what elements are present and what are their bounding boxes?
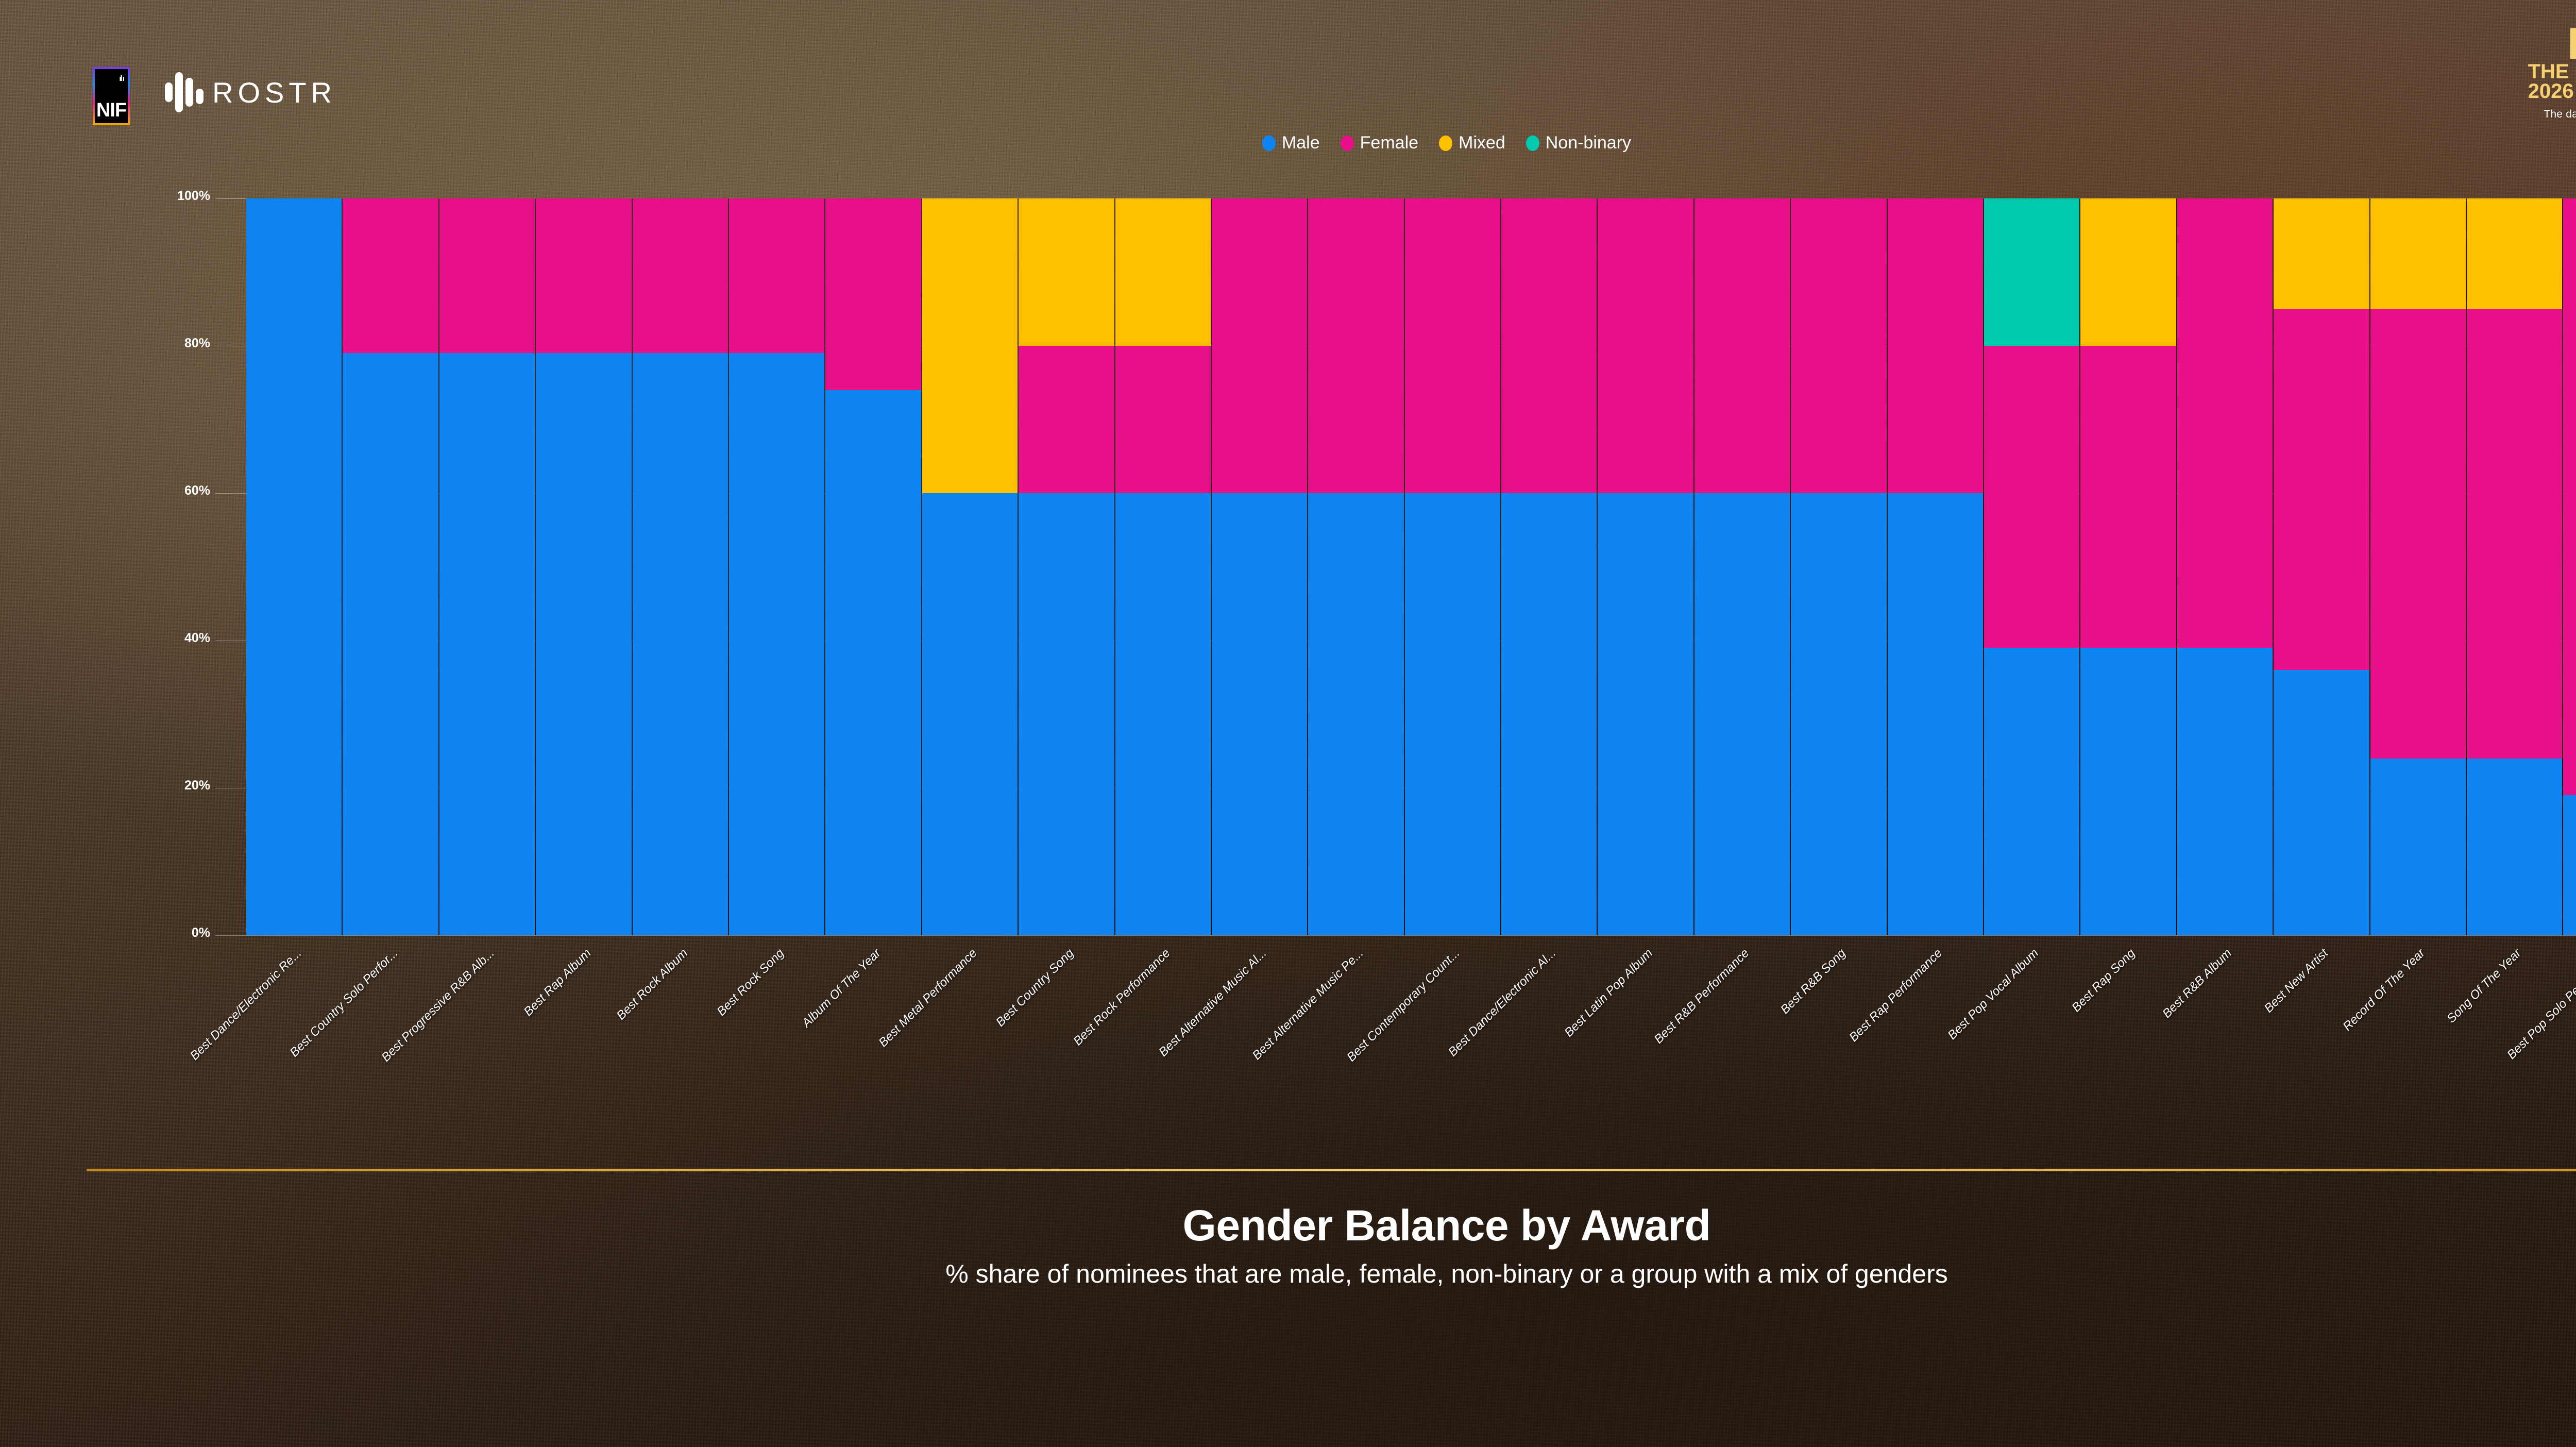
bar-segment-female[interactable] — [1984, 346, 2079, 648]
bar-segment-female[interactable] — [729, 198, 824, 353]
y-axis-tick-label: 60% — [184, 483, 210, 498]
footer-divider — [87, 1169, 2576, 1171]
bar-column[interactable] — [2369, 198, 2466, 935]
bar-column[interactable] — [1693, 198, 1790, 935]
legend-label: Female — [1360, 133, 1418, 153]
bar-segment-female[interactable] — [2370, 309, 2466, 759]
bar-segment-male[interactable] — [1019, 493, 1114, 935]
bar-segment-male[interactable] — [2467, 759, 2562, 935]
x-axis-label-cell: Best Country Song — [1019, 942, 1115, 1164]
legend-item-male[interactable]: Male — [1262, 133, 1320, 153]
bar-column[interactable] — [824, 198, 921, 935]
brand-line-year: 2026 — [2528, 81, 2574, 101]
bar-segment-male[interactable] — [1694, 493, 1790, 935]
legend-swatch-icon — [1526, 136, 1539, 151]
bar-segment-female[interactable] — [1019, 346, 1114, 493]
chart-footer: Gender Balance by Award % share of nomin… — [0, 1201, 2576, 1289]
chart-plot-area: 0%20%40%60%80%100% — [246, 198, 2576, 935]
bar-segment-male[interactable] — [2563, 795, 2576, 935]
bar-column[interactable] — [632, 198, 728, 935]
bar-column[interactable] — [1018, 198, 1114, 935]
bar-column[interactable] — [2176, 198, 2273, 935]
bar-segment-female[interactable] — [1694, 198, 1790, 493]
bar-segment-female[interactable] — [439, 198, 535, 353]
bar-segment-female[interactable] — [1115, 346, 1211, 493]
bar-segment-male[interactable] — [922, 493, 1018, 935]
bar-segment-female[interactable] — [2274, 309, 2369, 670]
legend-swatch-icon — [1341, 136, 1354, 151]
y-axis-tick-label: 40% — [184, 631, 210, 646]
x-axis-label-cell: Best New Artist — [2273, 942, 2369, 1164]
bar-column[interactable] — [535, 198, 631, 935]
legend-swatch-icon — [1262, 136, 1276, 151]
chart-legend: MaleFemaleMixedNon-binary — [0, 133, 2576, 153]
x-axis-label-cell: Best Dance/Electronic Al... — [1501, 942, 1597, 1164]
bar-segment-female[interactable] — [633, 198, 728, 353]
bar-segment-male[interactable] — [825, 390, 921, 935]
bar-column[interactable] — [438, 198, 535, 935]
gridline — [215, 935, 2576, 936]
bar-column[interactable] — [1500, 198, 1597, 935]
bar-column[interactable] — [1983, 198, 2079, 935]
bar-segment-male[interactable] — [1405, 493, 1500, 935]
bar-segment-non-binary[interactable] — [1984, 198, 2079, 346]
bar-segment-female[interactable] — [1791, 198, 1886, 493]
bar-segment-male[interactable] — [1888, 493, 1983, 935]
bar-segment-male[interactable] — [1984, 648, 2079, 935]
x-axis-label-cell: Album Of The Year — [825, 942, 922, 1164]
bar-column[interactable] — [921, 198, 1018, 935]
bar-column[interactable] — [1790, 198, 1886, 935]
x-axis-label-cell: Best Rap Song — [2080, 942, 2176, 1164]
rostr-logo: ROSTR — [165, 72, 336, 112]
bar-segment-male[interactable] — [2177, 648, 2273, 935]
bar-column[interactable] — [2273, 198, 2369, 935]
bar-segment-mixed[interactable] — [2467, 198, 2562, 309]
x-axis-label-cell: Best Latin Pop Album — [1597, 942, 1693, 1164]
rostr-logo-text: ROSTR — [212, 76, 336, 109]
bar-segment-female[interactable] — [1212, 198, 1307, 493]
behind-the-awards-brand: BEHIND THE 2026 AWARDS The data behind t… — [2498, 25, 2576, 121]
bar-column[interactable] — [2079, 198, 2176, 935]
legend-label: Male — [1282, 133, 1320, 153]
bar-segment-male[interactable] — [1598, 493, 1693, 935]
chart-title: Gender Balance by Award — [0, 1201, 2576, 1251]
bar-segment-mixed[interactable] — [1115, 198, 1211, 346]
bar-segment-female[interactable] — [2177, 198, 2273, 648]
legend-label: Mixed — [1459, 133, 1505, 153]
legend-item-mixed[interactable]: Mixed — [1439, 133, 1505, 153]
bar-segment-mixed[interactable] — [922, 198, 1018, 493]
x-axis-label-cell: Best Pop Solo Performan... — [2563, 942, 2576, 1164]
bar-column[interactable] — [342, 198, 438, 935]
brand-line-behind: BEHIND — [2495, 25, 2576, 64]
y-axis-tick-label: 20% — [184, 778, 210, 793]
bar-segment-male[interactable] — [2370, 759, 2466, 935]
bar-column[interactable] — [1887, 198, 1983, 935]
bar-segment-male[interactable] — [439, 353, 535, 935]
bar-segment-mixed[interactable] — [2274, 198, 2369, 309]
bar-segment-female[interactable] — [1598, 198, 1693, 493]
bar-segment-mixed[interactable] — [1019, 198, 1114, 346]
y-axis-tick-label: 100% — [177, 189, 210, 204]
bar-segment-male[interactable] — [729, 353, 824, 935]
bar-segment-female[interactable] — [2563, 198, 2576, 795]
bar-segment-male[interactable] — [1115, 493, 1211, 935]
x-axis-label-cell: Best Progressive R&B Alb... — [439, 942, 536, 1164]
y-axis-tick-label: 0% — [192, 926, 210, 940]
legend-label: Non-binary — [1546, 133, 1631, 153]
bar-segment-female[interactable] — [825, 198, 921, 390]
x-axis-tick-label: Best Dance/Electronic Re... — [188, 946, 304, 1063]
x-axis-label-cell: Best R&B Performance — [1694, 942, 1790, 1164]
bar-segment-female[interactable] — [536, 198, 631, 353]
bar-segment-male[interactable] — [1308, 493, 1403, 935]
bar-column[interactable] — [2562, 198, 2576, 935]
bar-column[interactable] — [2466, 198, 2562, 935]
nif-logo: ıl ı NIF — [93, 67, 130, 125]
bar-segment-female[interactable] — [343, 198, 438, 353]
brand-tagline: The data behind the 2026 GRAMMY Awards — [2498, 108, 2576, 121]
rostr-waveform-icon — [165, 72, 204, 112]
bar-segment-mixed[interactable] — [2080, 198, 2176, 346]
bar-segment-female[interactable] — [2467, 309, 2562, 759]
bar-column[interactable] — [1597, 198, 1693, 935]
bar-segment-male[interactable] — [246, 198, 342, 935]
bar-column[interactable] — [1404, 198, 1500, 935]
x-axis-label-cell: Best Rock Album — [632, 942, 728, 1164]
bar-segment-female[interactable] — [2080, 346, 2176, 648]
bar-segment-male[interactable] — [1501, 493, 1597, 935]
bar-segment-mixed[interactable] — [2370, 198, 2466, 309]
bar-segment-female[interactable] — [1501, 198, 1597, 493]
legend-swatch-icon — [1439, 136, 1452, 151]
chart-subtitle: % share of nominees that are male, femal… — [0, 1259, 2576, 1289]
bar-column[interactable] — [1114, 198, 1211, 935]
x-axis-label-cell: Best Rock Song — [729, 942, 825, 1164]
bar-column[interactable] — [728, 198, 824, 935]
bar-column[interactable] — [1307, 198, 1403, 935]
bar-segment-female[interactable] — [1405, 198, 1500, 493]
x-axis-tick-label: Best Rap Song — [2069, 946, 2138, 1015]
bar-segment-female[interactable] — [1308, 198, 1403, 493]
bar-segment-female[interactable] — [1888, 198, 1983, 493]
bar-segment-male[interactable] — [1791, 493, 1886, 935]
x-axis-label-cell: Best Rap Performance — [1887, 942, 1983, 1164]
legend-item-female[interactable]: Female — [1341, 133, 1418, 153]
x-axis-label-cell: Record Of The Year — [2369, 942, 2466, 1164]
legend-item-non-binary[interactable]: Non-binary — [1526, 133, 1631, 153]
x-axis-label-cell: Best Rap Album — [536, 942, 632, 1164]
x-axis-label-cell: Best Metal Performance — [922, 942, 1018, 1164]
bar-segment-male[interactable] — [536, 353, 631, 935]
bar-column[interactable] — [1211, 198, 1307, 935]
nif-logo-text: NIF — [96, 101, 126, 120]
bar-column[interactable] — [246, 198, 342, 935]
chart-x-axis-labels: Best Dance/Electronic Re...Best Country … — [246, 942, 2576, 1164]
x-axis-label-cell: Best Pop Vocal Album — [1984, 942, 2080, 1164]
bar-segment-male[interactable] — [2274, 670, 2369, 935]
x-axis-label-cell: Best R&B Song — [1790, 942, 1887, 1164]
chart-bars — [246, 198, 2576, 935]
bar-segment-male[interactable] — [633, 353, 728, 935]
y-axis-tick-label: 80% — [184, 336, 210, 351]
nif-mark-icon: ıl ı — [119, 74, 124, 83]
bar-segment-male[interactable] — [1212, 493, 1307, 935]
x-axis-label-cell: Best R&B Album — [2176, 942, 2273, 1164]
bar-segment-male[interactable] — [343, 353, 438, 935]
bar-segment-male[interactable] — [2080, 648, 2176, 935]
